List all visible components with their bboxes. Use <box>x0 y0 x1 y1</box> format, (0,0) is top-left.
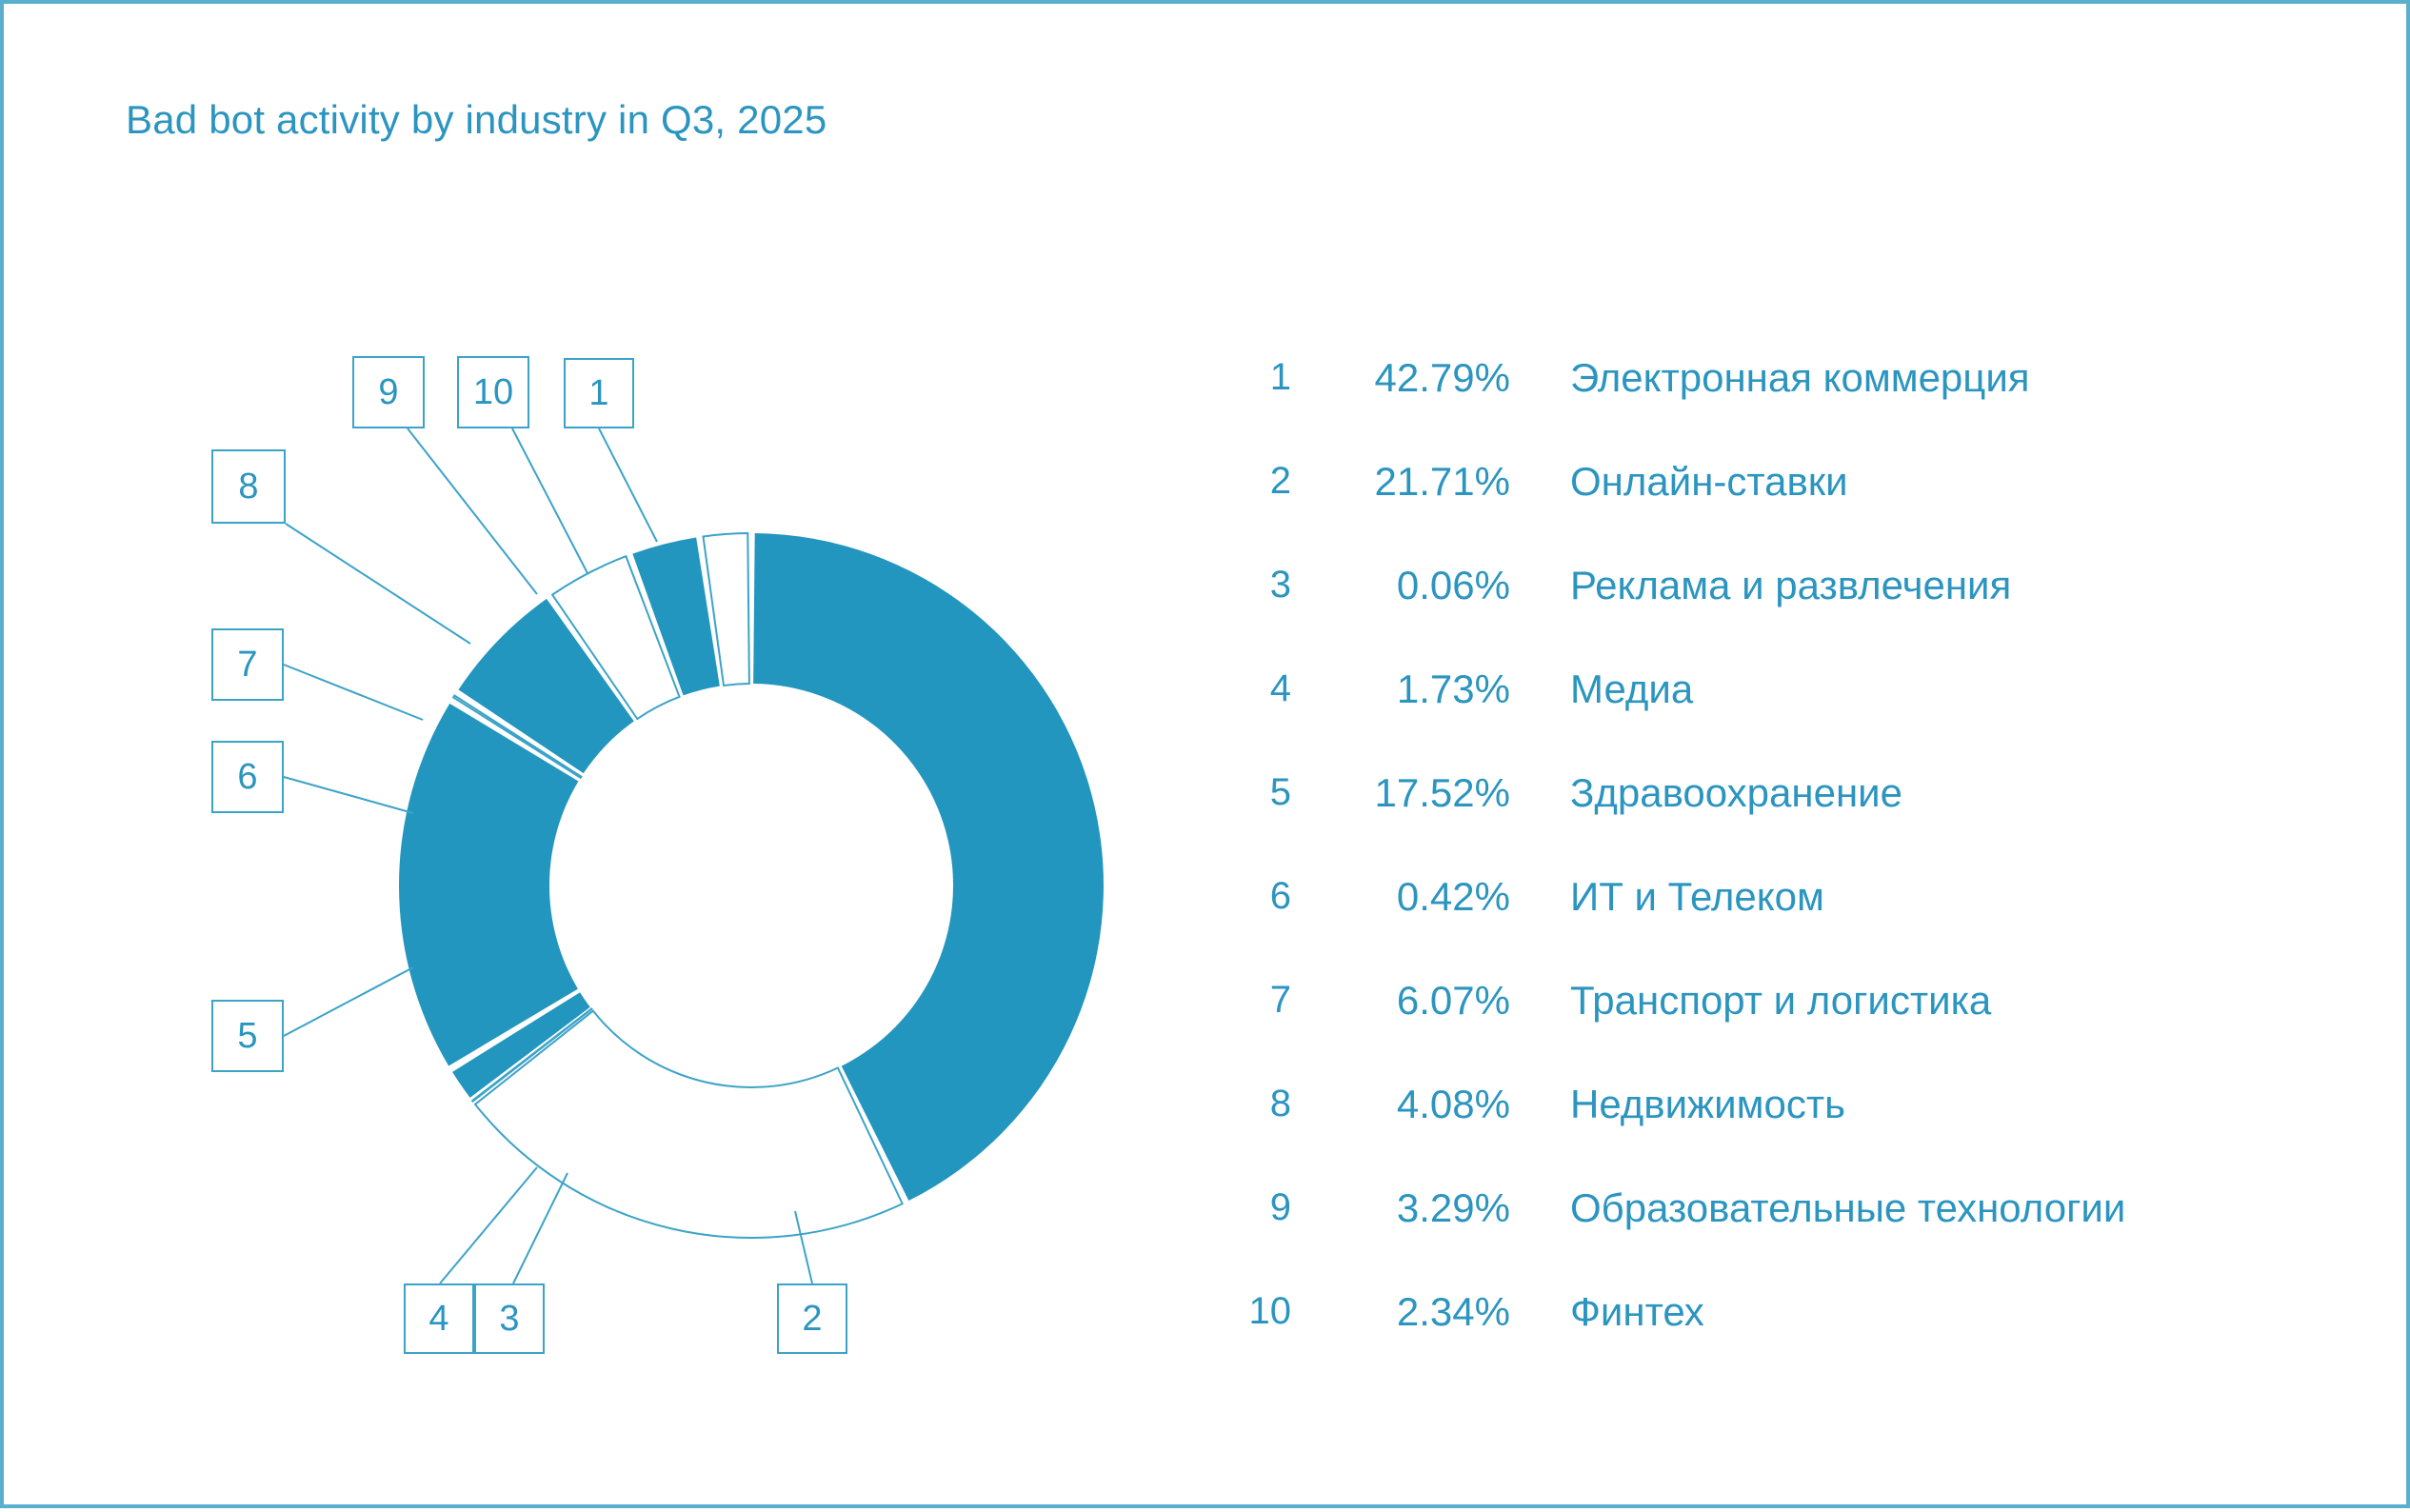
callout-leader-line <box>284 665 423 720</box>
legend-label: Онлайн-ставки <box>1518 459 1848 505</box>
legend-row: 517.52%Здравоохранение <box>1232 741 2327 845</box>
legend-index: 8 <box>1232 1083 1291 1125</box>
chart-page: Bad bot activity by industry in Q3, 2025… <box>0 0 2410 1508</box>
callout-leader-line <box>286 524 470 644</box>
callout-leader-line <box>284 967 413 1036</box>
legend-label: Недвижимость <box>1518 1082 1845 1127</box>
legend-label: Образовательные технологии <box>1518 1185 2125 1231</box>
legend-row: 84.08%Недвижимость <box>1232 1052 2327 1156</box>
callout-leader-line <box>795 1211 812 1283</box>
legend-label: ИТ и Телеком <box>1518 874 1824 920</box>
callout-box-2[interactable]: 2 <box>777 1283 847 1354</box>
callout-leader-line <box>512 428 588 573</box>
legend-index: 9 <box>1232 1186 1291 1229</box>
legend-label: Реклама и развлечения <box>1518 563 2011 608</box>
legend-percent: 17.52% <box>1291 770 1518 816</box>
legend-index: 3 <box>1232 564 1291 607</box>
callout-box-4[interactable]: 4 <box>404 1283 474 1354</box>
callout-box-5[interactable]: 5 <box>211 1000 284 1072</box>
callout-leader-line <box>599 428 657 542</box>
legend-index: 4 <box>1232 667 1291 710</box>
callout-box-6[interactable]: 6 <box>211 741 284 813</box>
donut-slice[interactable] <box>753 533 1104 1201</box>
legend-percent: 2.34% <box>1291 1289 1518 1335</box>
callout-leader-line <box>408 428 537 594</box>
legend-row: 93.29%Образовательные технологии <box>1232 1156 2327 1260</box>
legend-percent: 0.06% <box>1291 563 1518 608</box>
callout-box-1[interactable]: 1 <box>564 358 634 428</box>
legend-percent: 6.07% <box>1291 978 1518 1024</box>
callout-leader-line <box>513 1173 568 1283</box>
legend-percent: 42.79% <box>1291 355 1518 401</box>
legend-index: 10 <box>1232 1290 1291 1333</box>
legend-index: 2 <box>1232 460 1291 503</box>
legend-row: 142.79%Электронная коммерция <box>1232 326 2327 429</box>
legend-label: Финтех <box>1518 1289 1704 1335</box>
callout-box-8[interactable]: 8 <box>211 449 286 524</box>
legend-label: Транспорт и логистика <box>1518 978 1991 1024</box>
legend-row: 41.73%Медиа <box>1232 637 2327 741</box>
donut-chart-svg <box>4 4 1194 1512</box>
legend-percent: 0.42% <box>1291 874 1518 920</box>
legend: 142.79%Электронная коммерция221.71%Онлай… <box>1232 326 2327 1363</box>
legend-label: Электронная коммерция <box>1518 355 2030 401</box>
callout-box-3[interactable]: 3 <box>474 1283 545 1354</box>
legend-percent: 4.08% <box>1291 1082 1518 1127</box>
legend-row: 60.42%ИТ и Телеком <box>1232 845 2327 948</box>
legend-percent: 3.29% <box>1291 1185 1518 1231</box>
legend-index: 6 <box>1232 875 1291 918</box>
legend-row: 221.71%Онлайн-ставки <box>1232 429 2327 533</box>
callout-box-9[interactable]: 9 <box>352 356 425 428</box>
legend-index: 1 <box>1232 356 1291 399</box>
callout-leader-line <box>284 777 413 813</box>
legend-row: 102.34%Финтех <box>1232 1260 2327 1363</box>
legend-label: Медиа <box>1518 666 1693 712</box>
callout-box-10[interactable]: 10 <box>457 356 529 428</box>
legend-index: 7 <box>1232 979 1291 1022</box>
donut-slices <box>399 533 1104 1238</box>
legend-label: Здравоохранение <box>1518 770 1902 816</box>
legend-percent: 21.71% <box>1291 459 1518 505</box>
legend-row: 30.06%Реклама и развлечения <box>1232 533 2327 637</box>
legend-index: 5 <box>1232 771 1291 814</box>
donut-chart-area: 12345678910 <box>4 4 1194 1512</box>
callout-box-7[interactable]: 7 <box>211 628 284 701</box>
legend-percent: 1.73% <box>1291 666 1518 712</box>
legend-row: 76.07%Транспорт и логистика <box>1232 948 2327 1052</box>
